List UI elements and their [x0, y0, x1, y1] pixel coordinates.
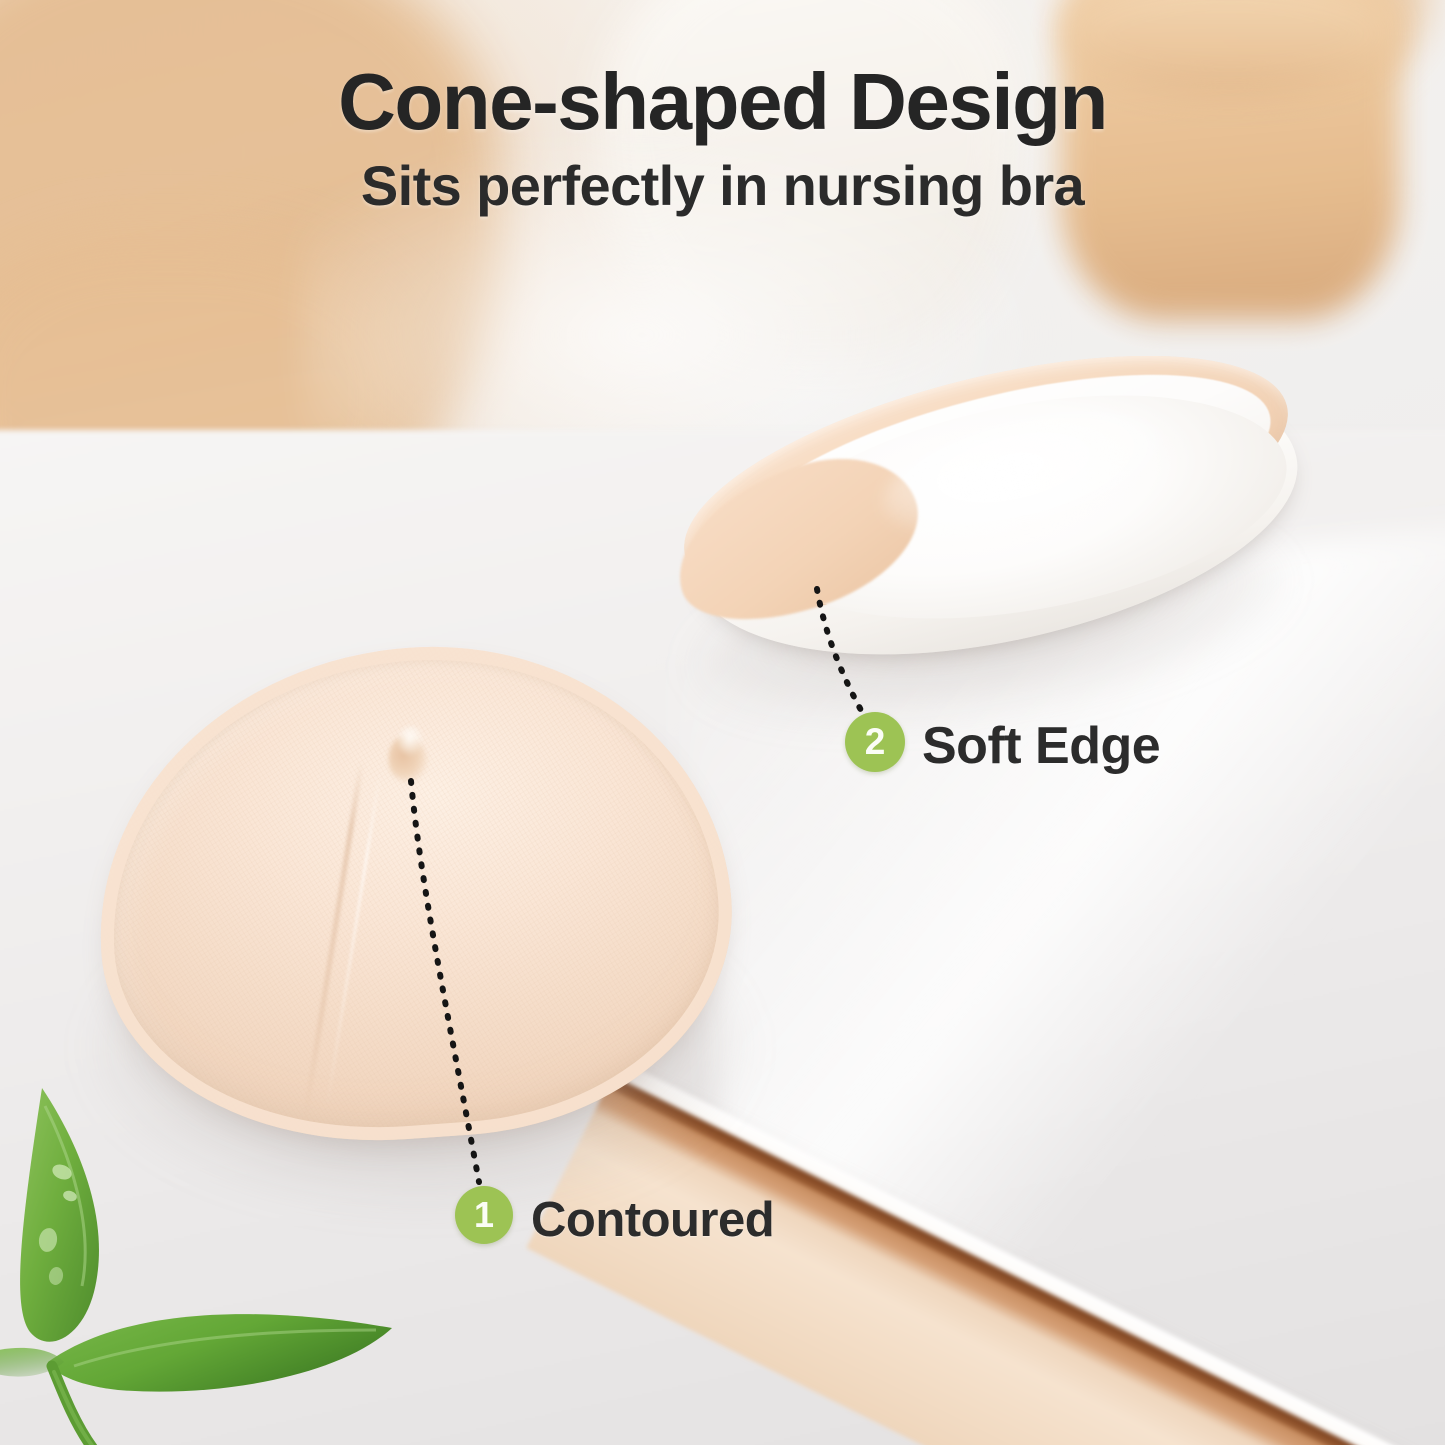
heading-block: Cone-shaped Design Sits perfectly in nur…: [0, 62, 1445, 214]
page-subtitle: Sits perfectly in nursing bra: [0, 158, 1445, 214]
callout-badge-2[interactable]: 2: [845, 712, 905, 772]
bamboo-leaves-icon: [0, 1080, 420, 1445]
callout-badge-2-number: 2: [865, 721, 886, 763]
infographic-canvas: 1 Contoured 2 Soft Edge Cone-shaped Desi…: [0, 0, 1445, 1445]
callout-label-contoured: Contoured: [531, 1192, 774, 1248]
callout-badge-1[interactable]: 1: [455, 1186, 513, 1244]
callout-label-soft-edge: Soft Edge: [922, 716, 1160, 776]
page-title: Cone-shaped Design: [0, 62, 1445, 142]
callout-badge-1-number: 1: [474, 1194, 494, 1236]
